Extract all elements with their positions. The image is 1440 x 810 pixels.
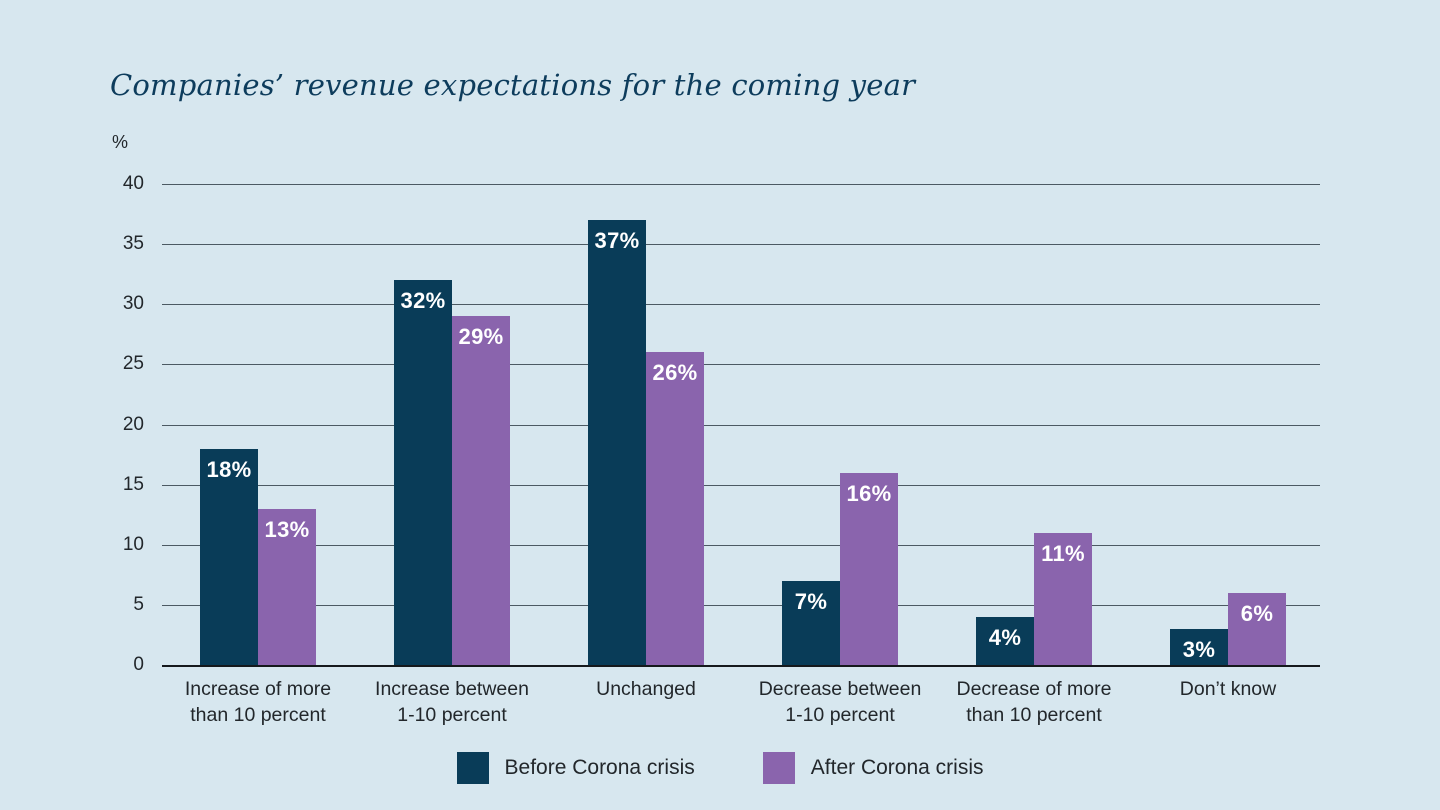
bar-value-label: 7% bbox=[782, 589, 840, 615]
legend-item-after[interactable]: After Corona crisis bbox=[763, 752, 984, 784]
chart-title: Companies’ revenue expectations for the … bbox=[110, 68, 915, 102]
category-label-line: Decrease of more bbox=[924, 676, 1144, 702]
bar-after-3: 16% bbox=[840, 473, 898, 665]
bar-before-0: 18% bbox=[200, 449, 258, 665]
bar-value-label: 4% bbox=[976, 625, 1034, 651]
bar-after-5: 6% bbox=[1228, 593, 1286, 665]
legend-label: After Corona crisis bbox=[811, 756, 984, 780]
category-label-line: than 10 percent bbox=[148, 702, 368, 728]
legend-swatch-icon bbox=[457, 752, 489, 784]
category-axis-labels: Increase of morethan 10 percentIncrease … bbox=[162, 676, 1320, 740]
category-label-1: Increase between1-10 percent bbox=[342, 676, 562, 728]
bar-value-label: 6% bbox=[1228, 601, 1286, 627]
y-tick-label-15: 15 bbox=[100, 474, 144, 496]
y-tick-label-20: 20 bbox=[100, 414, 144, 436]
bar-chart: Companies’ revenue expectations for the … bbox=[0, 0, 1440, 810]
bar-after-2: 26% bbox=[646, 352, 704, 665]
bar-after-0: 13% bbox=[258, 509, 316, 665]
bar-before-2: 37% bbox=[588, 220, 646, 665]
bar-value-label: 18% bbox=[200, 457, 258, 483]
category-label-2: Unchanged bbox=[536, 676, 756, 702]
bar-value-label: 29% bbox=[452, 324, 510, 350]
legend-label: Before Corona crisis bbox=[505, 756, 695, 780]
category-label-line: Unchanged bbox=[536, 676, 756, 702]
category-label-line: 1-10 percent bbox=[730, 702, 950, 728]
category-label-0: Increase of morethan 10 percent bbox=[148, 676, 368, 728]
bar-before-4: 4% bbox=[976, 617, 1034, 665]
y-axis-unit-label: % bbox=[112, 132, 128, 153]
bar-value-label: 13% bbox=[258, 517, 316, 543]
category-label-line: Increase between bbox=[342, 676, 562, 702]
legend-swatch-icon bbox=[763, 752, 795, 784]
y-tick-label-5: 5 bbox=[100, 594, 144, 616]
y-tick-label-25: 25 bbox=[100, 353, 144, 375]
category-label-line: Decrease between bbox=[730, 676, 950, 702]
bars-layer: 18%13%32%29%37%26%7%16%4%11%3%6% bbox=[162, 184, 1320, 665]
bar-value-label: 32% bbox=[394, 288, 452, 314]
y-tick-label-10: 10 bbox=[100, 534, 144, 556]
bar-value-label: 26% bbox=[646, 360, 704, 386]
y-tick-label-40: 40 bbox=[100, 173, 144, 195]
bar-value-label: 16% bbox=[840, 481, 898, 507]
bar-value-label: 11% bbox=[1034, 541, 1092, 567]
category-label-4: Decrease of morethan 10 percent bbox=[924, 676, 1144, 728]
bar-before-5: 3% bbox=[1170, 629, 1228, 665]
category-label-line: Increase of more bbox=[148, 676, 368, 702]
y-tick-label-30: 30 bbox=[100, 293, 144, 315]
bar-before-3: 7% bbox=[782, 581, 840, 665]
category-label-3: Decrease between1-10 percent bbox=[730, 676, 950, 728]
category-label-line: than 10 percent bbox=[924, 702, 1144, 728]
y-tick-label-35: 35 bbox=[100, 233, 144, 255]
category-label-5: Don’t know bbox=[1118, 676, 1338, 702]
bar-after-1: 29% bbox=[452, 316, 510, 665]
x-axis-line bbox=[162, 665, 1320, 667]
bar-value-label: 3% bbox=[1170, 637, 1228, 663]
category-label-line: 1-10 percent bbox=[342, 702, 562, 728]
category-label-line: Don’t know bbox=[1118, 676, 1338, 702]
y-tick-label-0: 0 bbox=[100, 654, 144, 676]
bar-after-4: 11% bbox=[1034, 533, 1092, 665]
chart-legend: Before Corona crisisAfter Corona crisis bbox=[0, 752, 1440, 784]
bar-before-1: 32% bbox=[394, 280, 452, 665]
legend-item-before[interactable]: Before Corona crisis bbox=[457, 752, 695, 784]
bar-value-label: 37% bbox=[588, 228, 646, 254]
